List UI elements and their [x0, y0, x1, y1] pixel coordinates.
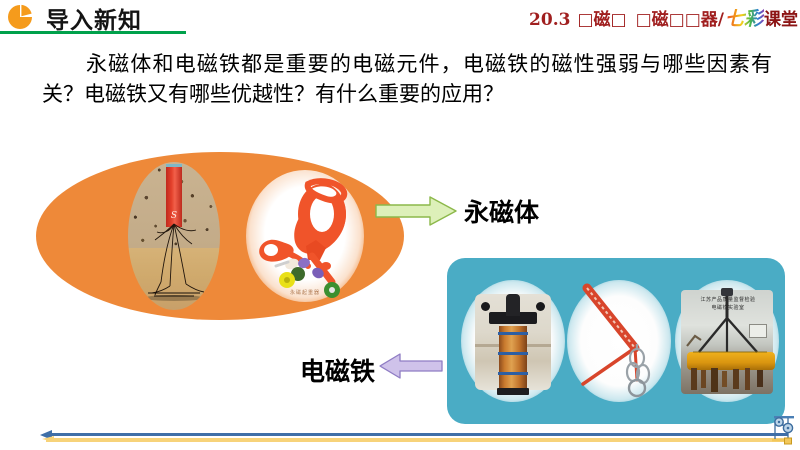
left-arrow-icon: [40, 428, 56, 442]
footer-yellow-line: [46, 438, 788, 442]
permanent-magnet-illustration-group: S: [36, 152, 404, 320]
chapter-number: 20.3: [529, 10, 570, 30]
lifting-hook-graphic: [246, 170, 364, 302]
intro-paragraph: 永磁体和电磁铁都是重要的电磁元件，电磁铁的磁性强弱与哪些因素有关？电磁铁又有哪些…: [42, 50, 772, 110]
chapter-title-block: 20.3 □磁□ □磁□□器 / 七彩 课堂: [529, 4, 798, 31]
footer-divider: [0, 424, 800, 450]
chapter-title-part1: □磁□: [570, 5, 626, 30]
lifting-sling-graphic: [567, 280, 671, 402]
footer-blue-line: [46, 433, 788, 436]
coil-band: [498, 352, 528, 355]
electromagnet-illustration-panel: 江苏产品质量监督检验 电磁铁实验室: [447, 258, 785, 424]
chapter-title-part2: □磁□□器: [627, 5, 718, 30]
pulley-system-icon: [770, 414, 796, 446]
coil-band: [498, 332, 528, 335]
slide-canvas: 导入新知 20.3 □磁□ □磁□□器 / 七彩 课堂 永磁体和电磁铁都是重要的…: [0, 0, 800, 450]
coil-band: [498, 372, 528, 375]
electromagnet-label: 电磁铁: [300, 352, 375, 388]
orange-pie-logo-icon: [7, 4, 33, 30]
electromagnet-coil-photo: [461, 280, 565, 402]
crane-chain-rigging: [675, 280, 779, 402]
bar-magnet-with-iron-filings-photo: S: [128, 162, 220, 310]
coil-base: [497, 388, 529, 395]
brand-dark-text: 课堂: [764, 5, 798, 30]
lifter-photo-caption: 永磁起重器: [246, 289, 364, 296]
slide-header: 导入新知 20.3 □磁□ □磁□□器 / 七彩 课堂: [0, 0, 800, 38]
green-right-arrow: [374, 194, 458, 228]
permanent-magnet-label: 永磁体: [464, 193, 539, 229]
page-title: 导入新知: [46, 1, 142, 35]
magnetic-lifting-hook-photo: 永磁起重器: [246, 170, 364, 302]
iron-filings-strands: [128, 162, 220, 310]
brand-colorful-text: 七彩: [724, 4, 764, 31]
copper-winding: [499, 326, 527, 390]
coil-terminal-knob: [536, 302, 545, 311]
coil-core-post: [506, 294, 520, 316]
industrial-electromagnet-crane-photo: 江苏产品质量监督检验 电磁铁实验室: [675, 280, 779, 402]
coil-terminal-knob: [481, 302, 490, 311]
purple-left-arrow: [378, 352, 444, 380]
lifting-sling-photo: [567, 280, 671, 402]
title-underline: [0, 31, 186, 34]
